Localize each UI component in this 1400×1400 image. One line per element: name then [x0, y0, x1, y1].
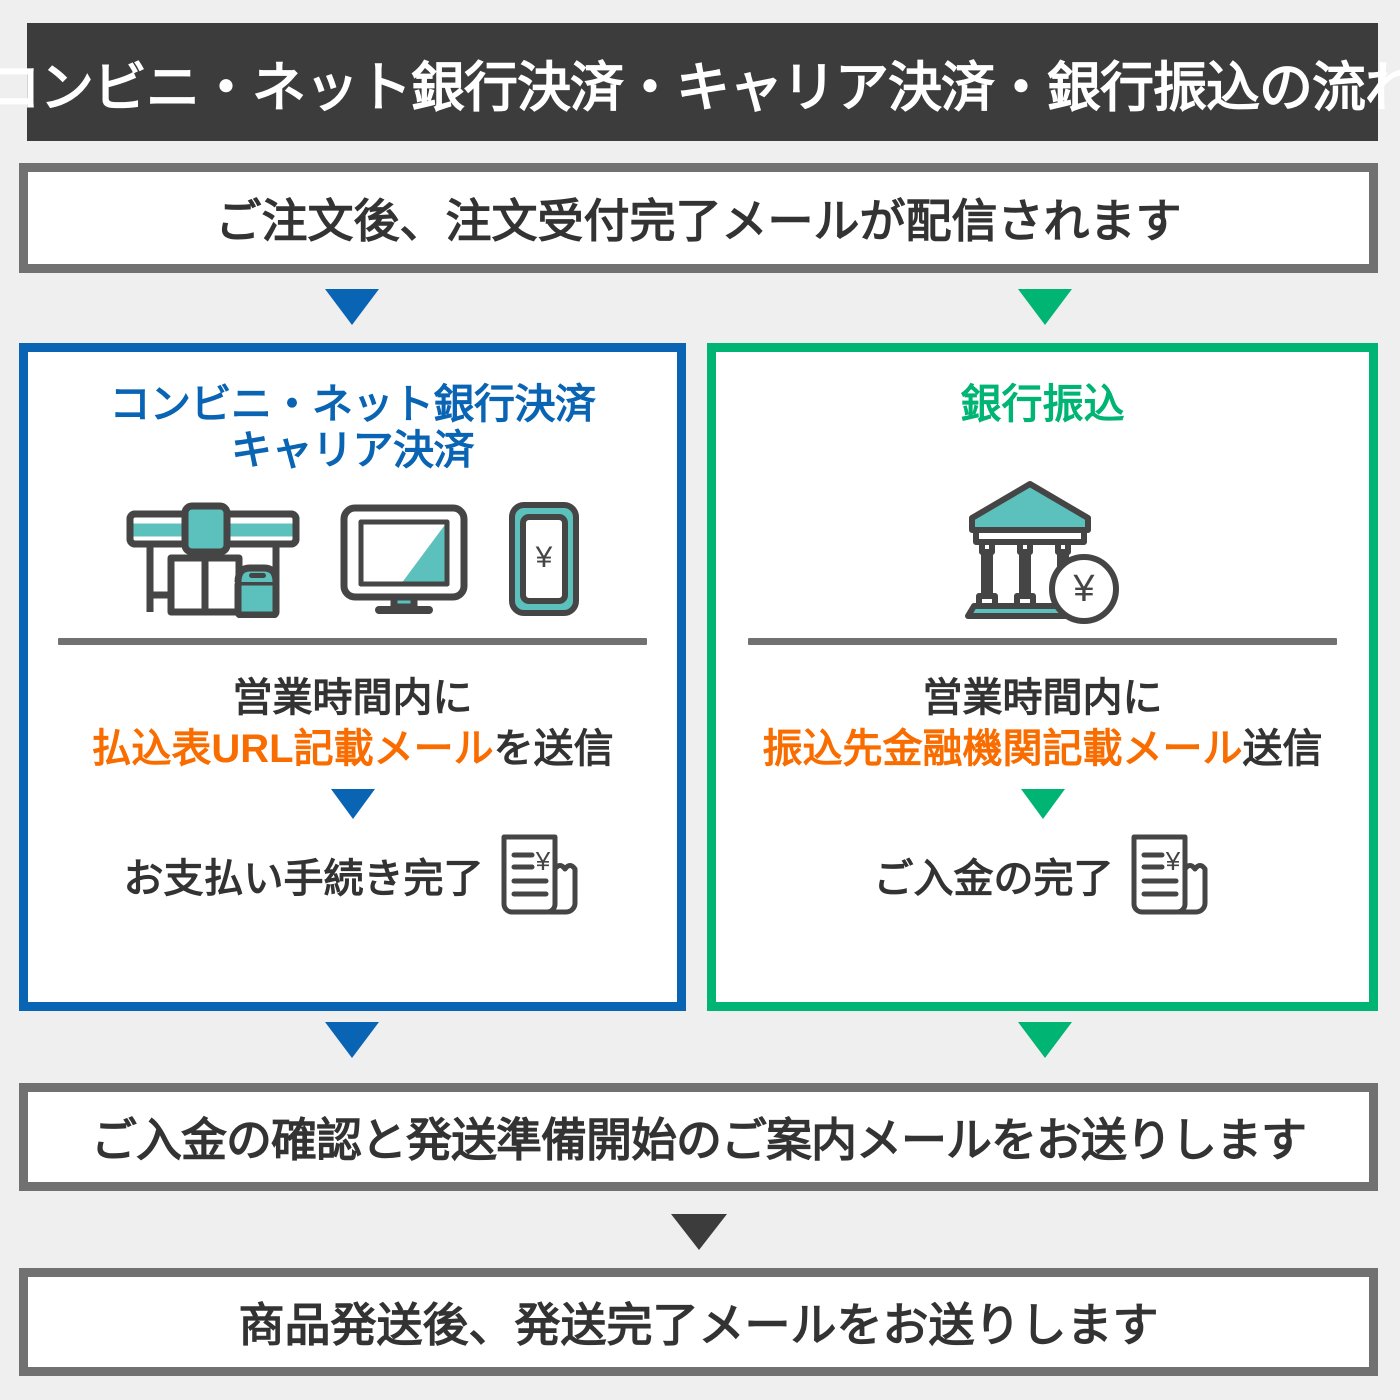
arrow-down-from-bank-icon — [1018, 1022, 1072, 1058]
panel-conveni-complete-row: お支払い手続き完了 ¥ — [28, 829, 677, 921]
panel-conveni-icon-row: ¥ — [28, 498, 677, 618]
svg-text:¥: ¥ — [1164, 846, 1180, 876]
panel-conveni-inner-arrow-wrap — [28, 789, 677, 819]
panel-conveni-note-line2: 払込表URL記載メールを送信 — [28, 724, 677, 775]
panel-bank-note-suffix: 送信 — [1243, 727, 1323, 771]
panel-conveni-heading-line1: コンビニ・ネット銀行決済 — [28, 382, 677, 428]
panel-conveni-note-line1: 営業時間内に — [28, 673, 677, 724]
arrow-down-to-bank-icon — [1018, 289, 1072, 325]
panel-bank-note-line1: 営業時間内に — [716, 673, 1369, 724]
bank-building-yen-icon: ¥ — [958, 478, 1128, 626]
svg-text:¥: ¥ — [534, 846, 550, 876]
step-order-received: ご注文後、注文受付完了メールが配信されます — [19, 163, 1378, 273]
step-payment-confirmed-label: ご入金の確認と発送準備開始のご案内メールをお送りします — [91, 1104, 1306, 1170]
panel-bank-heading-line1: 銀行振込 — [716, 382, 1369, 428]
arrow-down-conveni-inner-icon — [331, 789, 375, 819]
panel-conveni-note-highlight: 払込表URL記載メール — [91, 727, 493, 771]
arrow-down-bank-inner-icon — [1021, 789, 1065, 819]
panel-bank-heading: 銀行振込 — [716, 352, 1369, 428]
panel-bank-icon-row: ¥ — [716, 486, 1369, 626]
panel-conveni-note: 営業時間内に 払込表URL記載メールを送信 — [28, 673, 677, 775]
panel-conveni-payment: コンビニ・ネット銀行決済 キャリア決済 — [19, 343, 686, 1011]
smartphone-yen-icon: ¥ — [507, 500, 581, 618]
step-shipped-label: 商品発送後、発送完了メールをお送りします — [239, 1289, 1159, 1355]
panel-bank-note-line2: 振込先金融機関記載メール送信 — [716, 724, 1369, 775]
panel-bank-note: 営業時間内に 振込先金融機関記載メール送信 — [716, 673, 1369, 775]
panel-bank-inner-arrow-wrap — [716, 789, 1369, 819]
panel-conveni-heading: コンビニ・ネット銀行決済 キャリア決済 — [28, 352, 677, 474]
svg-text:¥: ¥ — [534, 541, 552, 574]
page-title: コンビニ・ネット銀行決済・キャリア決済・銀行振込の流れ — [0, 43, 1400, 122]
svg-text:¥: ¥ — [1072, 568, 1095, 610]
step-payment-confirmed: ご入金の確認と発送準備開始のご案内メールをお送りします — [19, 1083, 1378, 1191]
arrow-down-to-shipped-icon — [671, 1214, 727, 1250]
page-title-bar: コンビニ・ネット銀行決済・キャリア決済・銀行振込の流れ — [27, 23, 1378, 141]
panel-bank-divider — [748, 638, 1337, 645]
panel-conveni-heading-line2: キャリア決済 — [28, 428, 677, 474]
panel-bank-note-highlight: 振込先金融機関記載メール — [763, 727, 1243, 771]
panel-conveni-divider — [58, 638, 647, 645]
invoice-yen-icon: ¥ — [494, 829, 582, 921]
panel-bank-transfer: 銀行振込 — [707, 343, 1378, 1011]
panel-bank-complete-label: ご入金の完了 — [874, 846, 1114, 904]
arrow-down-from-conveni-icon — [325, 1022, 379, 1058]
panel-bank-complete-row: ご入金の完了 ¥ — [716, 829, 1369, 921]
invoice-yen-icon: ¥ — [1124, 829, 1212, 921]
convenience-store-icon — [125, 500, 301, 618]
step-order-received-label: ご注文後、注文受付完了メールが配信されます — [216, 185, 1182, 251]
desktop-monitor-icon — [339, 500, 469, 618]
panel-conveni-complete-label: お支払い手続き完了 — [124, 846, 484, 904]
flow-diagram: コンビニ・ネット銀行決済・キャリア決済・銀行振込の流れ ご注文後、注文受付完了メ… — [0, 0, 1400, 1400]
panel-conveni-note-suffix: を送信 — [494, 727, 614, 771]
arrow-down-to-conveni-icon — [325, 289, 379, 325]
step-shipped: 商品発送後、発送完了メールをお送りします — [19, 1268, 1378, 1376]
